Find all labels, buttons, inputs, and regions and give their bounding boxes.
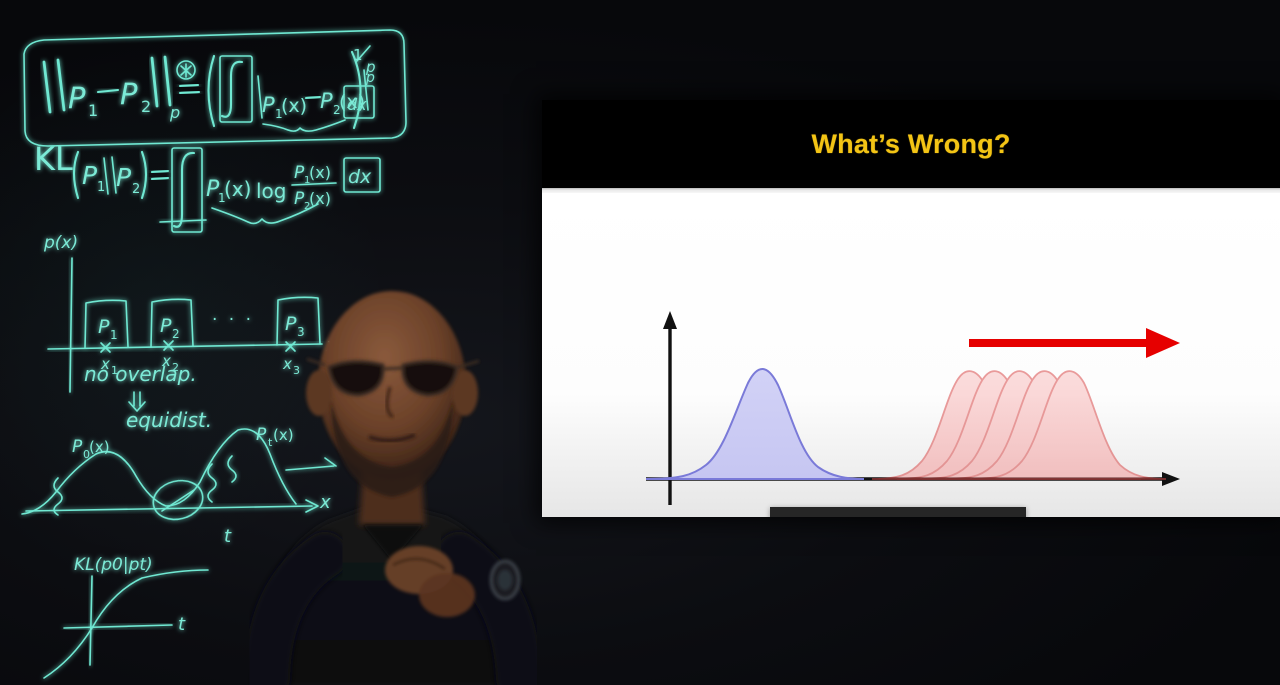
- caption-line-1: Measured overlap,: [787, 516, 1009, 517]
- diagram-no-overlap: p(x) x P 1 x 1 P 2 x 2 · · ·: [43, 233, 337, 392]
- presentation-slide: What’s Wrong?: [542, 100, 1280, 517]
- svg-text:P: P: [68, 81, 86, 115]
- caption-box: Measured overlap, not displacement.: [770, 507, 1026, 517]
- svg-text:t: t: [178, 614, 186, 635]
- svg-text:P: P: [116, 163, 132, 192]
- svg-text:KL(p0|pt): KL(p0|pt): [74, 555, 153, 575]
- svg-text:3: 3: [293, 364, 300, 377]
- svg-text:1: 1: [110, 328, 118, 342]
- y-axis: [663, 311, 677, 505]
- svg-text:t: t: [224, 526, 232, 547]
- svg-text:P: P: [120, 77, 138, 111]
- svg-text:equidist.: equidist.: [126, 408, 212, 432]
- svg-text:(x): (x): [224, 177, 251, 201]
- lightboard: P 1 P 2 p P: [0, 0, 560, 685]
- svg-text:p: p: [169, 103, 180, 122]
- slide-titlebar: What’s Wrong?: [542, 100, 1280, 188]
- caption-comma: ,: [1002, 516, 1009, 517]
- svg-text:P: P: [82, 161, 98, 190]
- svg-text:2: 2: [132, 182, 140, 197]
- svg-text:dx: dx: [348, 166, 372, 188]
- overlap-vs-displacement-chart: [542, 193, 1280, 517]
- svg-text:x: x: [282, 355, 292, 373]
- svg-text:(x): (x): [309, 189, 331, 208]
- svg-text:3: 3: [297, 325, 305, 339]
- svg-text:2: 2: [141, 97, 151, 116]
- svg-text:no overlap.: no overlap.: [84, 362, 197, 386]
- svg-text:(x): (x): [281, 95, 307, 117]
- svg-text:· · ·: · · ·: [212, 310, 254, 330]
- formula-lp-norm: P 1 P 2 p P: [24, 30, 406, 146]
- svg-text:P: P: [72, 437, 83, 457]
- svg-text:P: P: [285, 313, 297, 335]
- video-frame: P 1 P 2 p P: [0, 0, 1280, 685]
- svg-text:dx: dx: [347, 95, 367, 114]
- svg-text:P: P: [160, 315, 172, 337]
- svg-text:1: 1: [353, 46, 363, 64]
- svg-text:P: P: [320, 89, 333, 113]
- svg-text:P: P: [256, 425, 267, 445]
- svg-text:(x): (x): [309, 163, 331, 182]
- svg-text:2: 2: [172, 327, 180, 341]
- svg-text:1: 1: [88, 101, 98, 120]
- displacement-arrow: [969, 328, 1180, 358]
- svg-text:(x): (x): [89, 438, 110, 456]
- diagram-kl-vs-t: KL(p0|pt) t: [44, 555, 208, 678]
- formula-kl-divergence: KL P 1 P 2 P 1 (x) log: [34, 140, 380, 232]
- svg-text:p: p: [365, 58, 376, 76]
- series-p-data: [646, 369, 864, 479]
- svg-text:KL: KL: [34, 140, 73, 178]
- svg-text:x: x: [319, 492, 331, 513]
- svg-text:1: 1: [97, 180, 105, 195]
- caption-word-overlap: overlap: [912, 516, 1002, 517]
- slide-body: Measured overlap, not displacement.: [542, 193, 1280, 517]
- svg-text:x: x: [325, 335, 337, 356]
- series-group-p-t: [872, 371, 1166, 479]
- svg-text:log: log: [256, 179, 287, 203]
- handwriting-layer: P 1 P 2 p P: [0, 0, 560, 685]
- caption-word-measured: Measured: [787, 516, 905, 517]
- svg-text:P: P: [262, 93, 275, 117]
- svg-text:(x): (x): [273, 426, 294, 444]
- diagram-equidist: equidist. x P 0 (x) P t (x): [22, 392, 336, 547]
- svg-text:p(x): p(x): [43, 233, 78, 253]
- slide-title: What’s Wrong?: [811, 129, 1010, 160]
- svg-text:P: P: [98, 316, 110, 338]
